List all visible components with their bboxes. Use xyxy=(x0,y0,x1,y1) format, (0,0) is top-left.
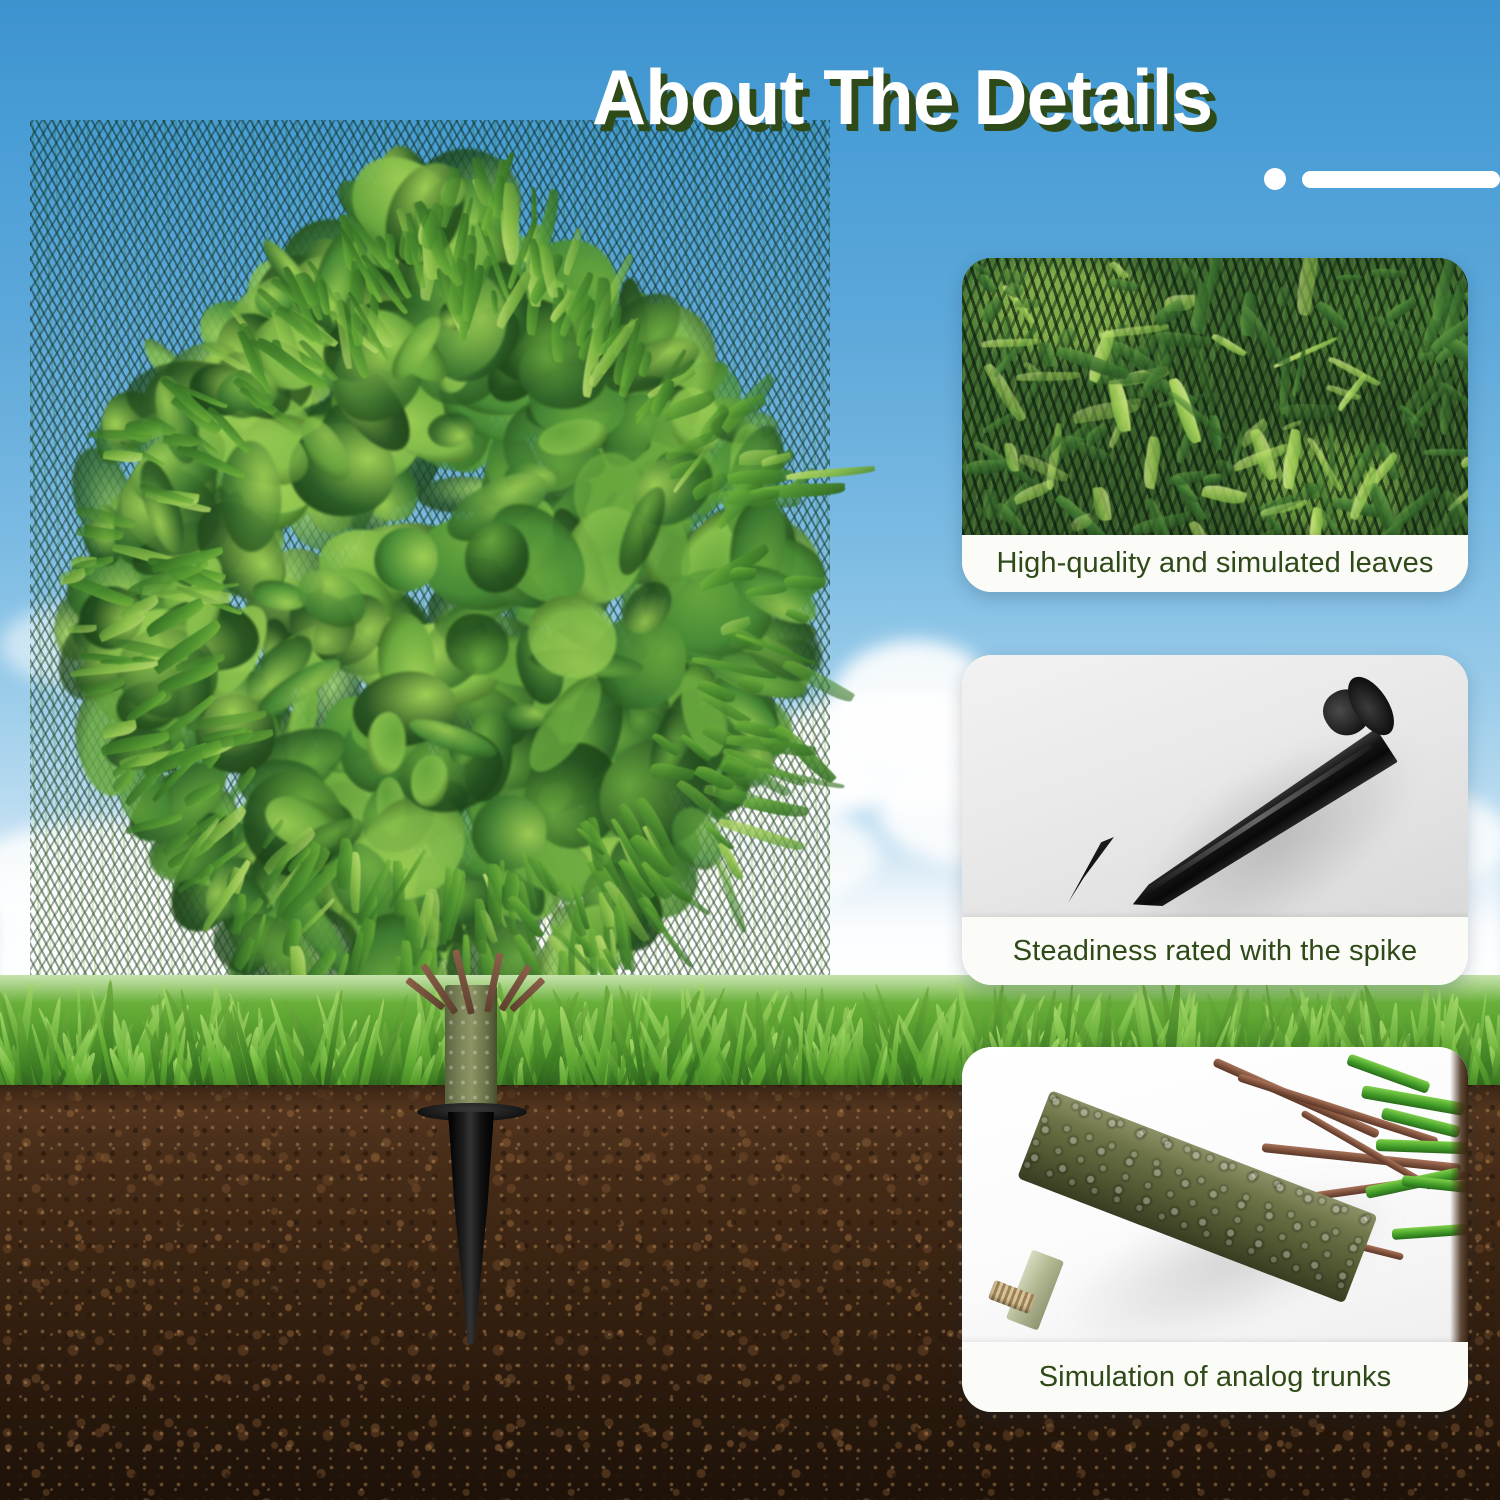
detail-card-caption: High-quality and simulated leaves xyxy=(962,535,1468,592)
detail-card-caption: Simulation of analog trunks xyxy=(962,1342,1468,1412)
accent-dot-icon xyxy=(1264,168,1286,190)
tree-canopy xyxy=(30,120,830,1020)
leaf-sprig xyxy=(1016,371,1080,380)
title-accent xyxy=(1264,168,1500,190)
detail-card-spike[interactable]: Steadiness rated with the spike xyxy=(962,655,1468,985)
detail-card-caption: Steadiness rated with the spike xyxy=(962,917,1468,985)
detail-card-trunk[interactable]: Simulation of analog trunks xyxy=(962,1047,1468,1412)
leaf-sprig xyxy=(1281,402,1340,420)
detail-card-leaves[interactable]: High-quality and simulated leaves xyxy=(962,258,1468,592)
accent-bar-icon xyxy=(1302,171,1500,188)
page-title: About The Details xyxy=(592,52,1456,143)
trunk-closeup-photo xyxy=(962,1047,1468,1342)
needle-spray xyxy=(386,233,396,259)
product-detail-infographic: About The Details High-quality and simul… xyxy=(0,0,1500,1500)
ground-spike-photo xyxy=(962,655,1468,917)
needle-spray xyxy=(474,898,487,953)
leaves-closeup-photo xyxy=(962,258,1468,535)
soil-edge-strip xyxy=(1450,1047,1468,1342)
needle-spray xyxy=(503,183,519,265)
